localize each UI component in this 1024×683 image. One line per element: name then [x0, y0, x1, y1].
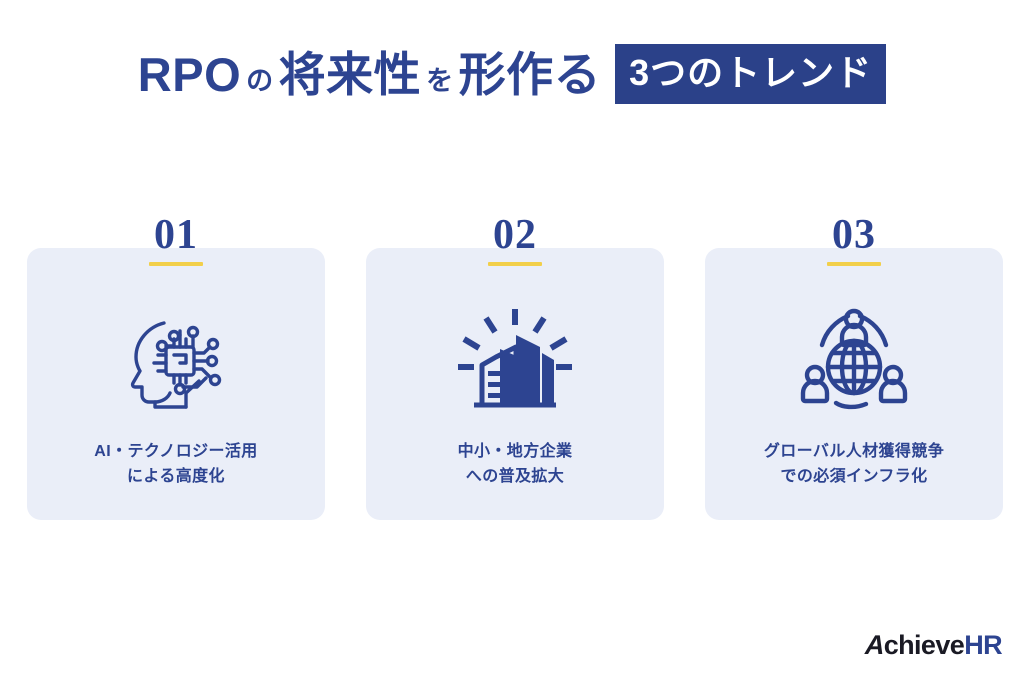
title-particle-1: の: [241, 68, 279, 95]
trend-card-03[interactable]: 03: [705, 248, 1003, 520]
card-label-01: AI・テクノロジー活用 による高度化: [41, 440, 311, 490]
title-highlight-badge: 3つのトレンド: [615, 44, 886, 104]
title-part-1: RPO: [138, 51, 241, 98]
logo-name: chieve: [884, 632, 964, 659]
page-title: RPO の 将来性 を 形作る 3つのトレンド: [0, 44, 1024, 104]
achievehr-logo: A chieve HR: [865, 632, 1002, 659]
card-label-line-1: グローバル人材獲得競争: [719, 440, 989, 465]
card-label-line-1: 中小・地方企業: [380, 440, 650, 465]
globe-people-network-icon: [705, 300, 1003, 418]
title-text: RPO の 将来性 を 形作る: [138, 51, 601, 98]
ai-brain-chip-icon: [27, 300, 325, 418]
trend-card-01[interactable]: 01: [27, 248, 325, 520]
card-label-line-1: AI・テクノロジー活用: [41, 440, 311, 465]
card-label-02: 中小・地方企業 への普及拡大: [380, 440, 650, 490]
logo-a-mark: A: [864, 632, 884, 659]
title-part-2: 将来性: [279, 51, 422, 98]
card-label-03: グローバル人材獲得競争 での必須インフラ化: [719, 440, 989, 490]
title-part-3: 形作る: [459, 51, 602, 98]
card-label-line-2: への普及拡大: [380, 465, 650, 490]
card-label-line-2: による高度化: [41, 465, 311, 490]
card-body: グローバル人材獲得競争 での必須インフラ化: [705, 248, 1003, 520]
trend-card-list: 01: [27, 248, 1003, 520]
slide-canvas: RPO の 将来性 を 形作る 3つのトレンド 01: [0, 0, 1024, 683]
logo-suffix: HR: [964, 632, 1002, 659]
city-buildings-rays-icon: [366, 300, 664, 418]
card-label-line-2: での必須インフラ化: [719, 465, 989, 490]
trend-card-02[interactable]: 02: [366, 248, 664, 520]
card-body: 中小・地方企業 への普及拡大: [366, 248, 664, 520]
title-particle-2: を: [421, 68, 459, 95]
card-body: AI・テクノロジー活用 による高度化: [27, 248, 325, 520]
